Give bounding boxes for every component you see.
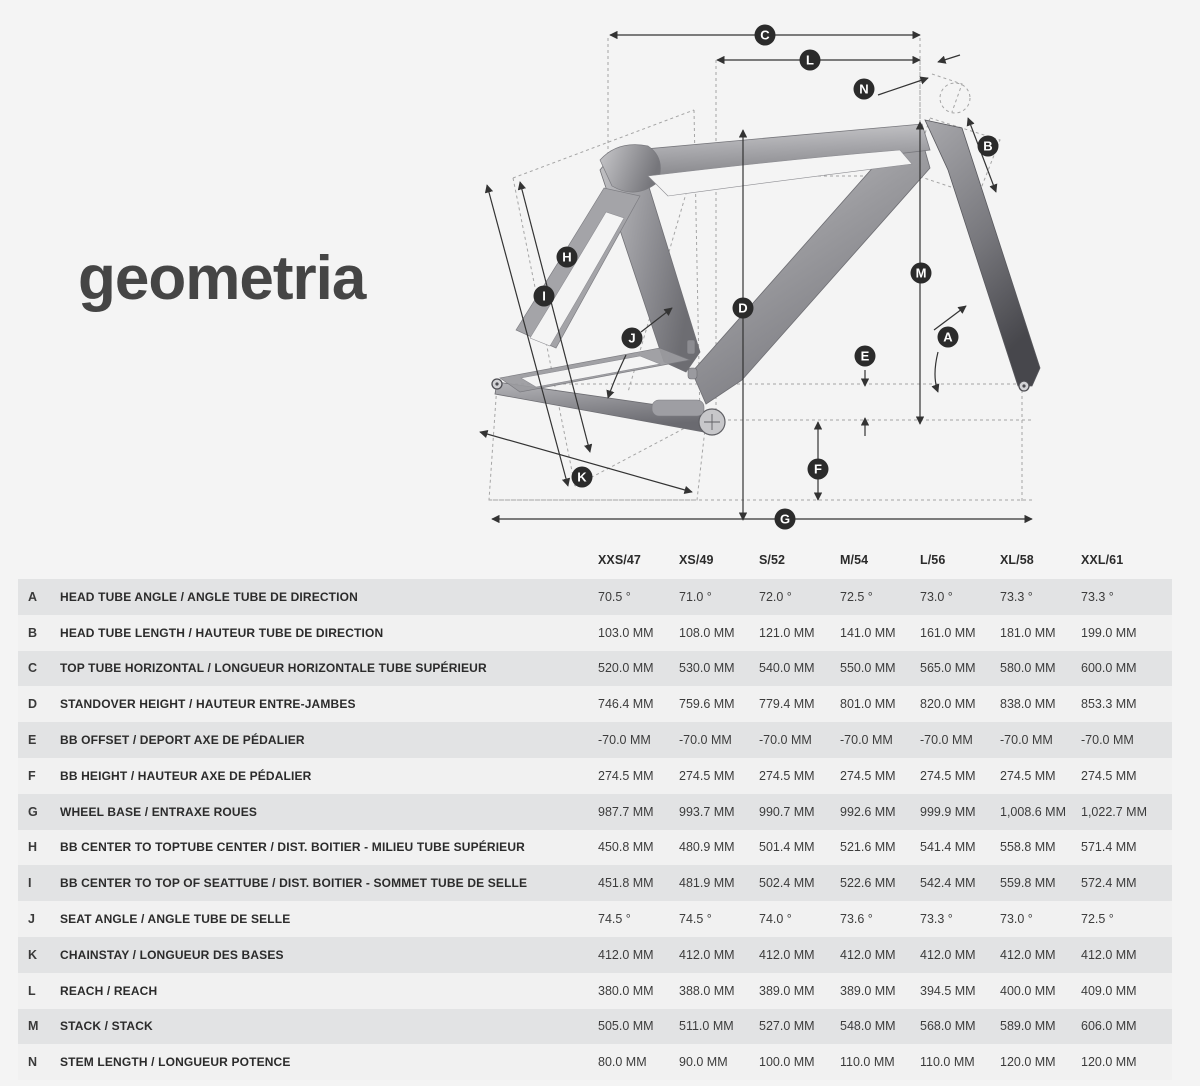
column-header-xxs-47: XXS/47 — [598, 553, 641, 567]
table-header-row: XXS/47XS/49S/52M/54L/56XL/58XXL/61 — [0, 545, 1200, 579]
cell-i-2: 502.4 MM — [759, 865, 815, 901]
cell-a-6: 73.3 ° — [1081, 579, 1114, 615]
badge-letter: B — [983, 139, 992, 154]
cell-h-0: 450.8 MM — [598, 830, 654, 866]
badge-letter: C — [760, 28, 770, 43]
row-label: HEAD TUBE LENGTH / HAUTEUR TUBE DE DIREC… — [60, 615, 383, 651]
cell-b-1: 108.0 MM — [679, 615, 735, 651]
row-letter-n: N — [28, 1044, 37, 1080]
cell-g-6: 1,022.7 MM — [1081, 794, 1147, 830]
cell-k-3: 412.0 MM — [840, 937, 896, 973]
cell-h-2: 501.4 MM — [759, 830, 815, 866]
cell-d-6: 853.3 MM — [1081, 686, 1137, 722]
row-letter-j: J — [28, 901, 35, 937]
cell-l-0: 380.0 MM — [598, 973, 654, 1009]
cell-i-1: 481.9 MM — [679, 865, 735, 901]
page-title: geometria — [78, 248, 365, 310]
table-row: IBB CENTER TO TOP OF SEATTUBE / DIST. BO… — [18, 865, 1172, 901]
cell-m-2: 527.0 MM — [759, 1009, 815, 1045]
badge-letter: M — [916, 266, 927, 281]
callout-badge-g: G — [775, 509, 796, 530]
cell-n-2: 100.0 MM — [759, 1044, 815, 1080]
callout-badge-k: K — [572, 467, 593, 488]
cell-b-3: 141.0 MM — [840, 615, 896, 651]
table-body: AHEAD TUBE ANGLE / ANGLE TUBE DE DIRECTI… — [0, 579, 1200, 1080]
badge-letter: J — [628, 331, 635, 346]
cell-l-2: 389.0 MM — [759, 973, 815, 1009]
cell-e-3: -70.0 MM — [840, 722, 893, 758]
badge-letter: A — [943, 330, 953, 345]
cell-j-6: 72.5 ° — [1081, 901, 1114, 937]
cell-j-0: 74.5 ° — [598, 901, 631, 937]
cell-l-1: 388.0 MM — [679, 973, 735, 1009]
cell-f-3: 274.5 MM — [840, 758, 896, 794]
row-label: CHAINSTAY / LONGUEUR DES BASES — [60, 937, 284, 973]
row-label: STACK / STACK — [60, 1009, 153, 1045]
cell-d-1: 759.6 MM — [679, 686, 735, 722]
table-row: GWHEEL BASE / ENTRAXE ROUES987.7 MM993.7… — [18, 794, 1172, 830]
callout-badge-a: A — [938, 327, 959, 348]
cell-f-0: 274.5 MM — [598, 758, 654, 794]
cell-l-3: 389.0 MM — [840, 973, 896, 1009]
cell-a-3: 72.5 ° — [840, 579, 873, 615]
rear-dropout-hole — [1022, 384, 1025, 387]
downtube-port — [652, 400, 704, 416]
bottle-boss-upper — [687, 340, 695, 354]
row-letter-e: E — [28, 722, 36, 758]
badge-letter: H — [562, 250, 571, 265]
cell-k-2: 412.0 MM — [759, 937, 815, 973]
row-label: HEAD TUBE ANGLE / ANGLE TUBE DE DIRECTIO… — [60, 579, 358, 615]
row-label: TOP TUBE HORIZONTAL / LONGUEUR HORIZONTA… — [60, 651, 487, 687]
table-row: MSTACK / STACK505.0 MM511.0 MM527.0 MM54… — [18, 1009, 1172, 1045]
stem-circle — [940, 83, 970, 113]
table-row: KCHAINSTAY / LONGUEUR DES BASES412.0 MM4… — [18, 937, 1172, 973]
cell-k-6: 412.0 MM — [1081, 937, 1137, 973]
cell-c-0: 520.0 MM — [598, 651, 654, 687]
row-letter-b: B — [28, 615, 37, 651]
cell-a-4: 73.0 ° — [920, 579, 953, 615]
cell-h-4: 541.4 MM — [920, 830, 976, 866]
cell-m-3: 548.0 MM — [840, 1009, 896, 1045]
cell-h-3: 521.6 MM — [840, 830, 896, 866]
cell-c-6: 600.0 MM — [1081, 651, 1137, 687]
badge-letter: D — [738, 301, 747, 316]
cell-j-3: 73.6 ° — [840, 901, 873, 937]
row-letter-a: A — [28, 579, 37, 615]
cell-d-2: 779.4 MM — [759, 686, 815, 722]
cell-c-2: 540.0 MM — [759, 651, 815, 687]
cell-b-0: 103.0 MM — [598, 615, 654, 651]
column-header-xxl-61: XXL/61 — [1081, 553, 1123, 567]
column-header-xs-49: XS/49 — [679, 553, 714, 567]
cell-c-4: 565.0 MM — [920, 651, 976, 687]
cell-e-5: -70.0 MM — [1000, 722, 1053, 758]
row-letter-c: C — [28, 651, 37, 687]
callout-badge-e: E — [855, 346, 876, 367]
cell-g-5: 1,008.6 MM — [1000, 794, 1066, 830]
cell-i-3: 522.6 MM — [840, 865, 896, 901]
cell-n-6: 120.0 MM — [1081, 1044, 1137, 1080]
column-header-l-56: L/56 — [920, 553, 945, 567]
callout-badge-f: F — [808, 459, 829, 480]
row-label: SEAT ANGLE / ANGLE TUBE DE SELLE — [60, 901, 290, 937]
row-label: BB HEIGHT / HAUTEUR AXE DE PÉDALIER — [60, 758, 312, 794]
row-letter-d: D — [28, 686, 37, 722]
cell-n-5: 120.0 MM — [1000, 1044, 1056, 1080]
callout-badge-b: B — [978, 136, 999, 157]
badge-letter: I — [542, 289, 546, 304]
cell-g-2: 990.7 MM — [759, 794, 815, 830]
cell-d-3: 801.0 MM — [840, 686, 896, 722]
badge-letter: E — [861, 349, 870, 364]
cell-j-5: 73.0 ° — [1000, 901, 1033, 937]
badge-letter: K — [577, 470, 587, 485]
cell-h-5: 558.8 MM — [1000, 830, 1056, 866]
table-row: NSTEM LENGTH / LONGUEUR POTENCE80.0 MM90… — [18, 1044, 1172, 1080]
column-header-s-52: S/52 — [759, 553, 785, 567]
cell-m-6: 606.0 MM — [1081, 1009, 1137, 1045]
cell-l-6: 409.0 MM — [1081, 973, 1137, 1009]
cell-h-1: 480.9 MM — [679, 830, 735, 866]
cell-g-4: 999.9 MM — [920, 794, 976, 830]
table-row: BHEAD TUBE LENGTH / HAUTEUR TUBE DE DIRE… — [18, 615, 1172, 651]
cell-a-2: 72.0 ° — [759, 579, 792, 615]
table-row: DSTANDOVER HEIGHT / HAUTEUR ENTRE-JAMBES… — [18, 686, 1172, 722]
badge-letter: N — [859, 82, 868, 97]
cell-b-2: 121.0 MM — [759, 615, 815, 651]
cell-m-5: 589.0 MM — [1000, 1009, 1056, 1045]
table-row: HBB CENTER TO TOPTUBE CENTER / DIST. BOI… — [18, 830, 1172, 866]
cell-i-4: 542.4 MM — [920, 865, 976, 901]
row-label: STEM LENGTH / LONGUEUR POTENCE — [60, 1044, 291, 1080]
cell-a-0: 70.5 ° — [598, 579, 631, 615]
column-header-xl-58: XL/58 — [1000, 553, 1034, 567]
cell-l-5: 400.0 MM — [1000, 973, 1056, 1009]
table-row: JSEAT ANGLE / ANGLE TUBE DE SELLE74.5 °7… — [18, 901, 1172, 937]
geometry-table: XXS/47XS/49S/52M/54L/56XL/58XXL/61 AHEAD… — [0, 545, 1200, 1086]
cell-j-1: 74.5 ° — [679, 901, 712, 937]
cell-i-5: 559.8 MM — [1000, 865, 1056, 901]
cell-g-1: 993.7 MM — [679, 794, 735, 830]
table-row: FBB HEIGHT / HAUTEUR AXE DE PÉDALIER274.… — [18, 758, 1172, 794]
callout-badge-l: L — [800, 50, 821, 71]
row-letter-i: I — [28, 865, 31, 901]
cell-f-4: 274.5 MM — [920, 758, 976, 794]
row-letter-k: K — [28, 937, 37, 973]
cell-a-1: 71.0 ° — [679, 579, 712, 615]
cell-c-1: 530.0 MM — [679, 651, 735, 687]
cell-i-0: 451.8 MM — [598, 865, 654, 901]
bicycle-frame-geometry-diagram: ABCDEFGHIJKLMN — [455, 0, 1095, 545]
cell-g-3: 992.6 MM — [840, 794, 896, 830]
callout-badge-c: C — [755, 25, 776, 46]
cell-e-6: -70.0 MM — [1081, 722, 1134, 758]
callout-badges: ABCDEFGHIJKLMN — [534, 25, 999, 530]
cell-e-2: -70.0 MM — [759, 722, 812, 758]
cell-n-3: 110.0 MM — [840, 1044, 895, 1080]
cell-d-4: 820.0 MM — [920, 686, 976, 722]
callout-badge-n: N — [854, 79, 875, 100]
row-label: BB CENTER TO TOP OF SEATTUBE / DIST. BOI… — [60, 865, 527, 901]
bottle-boss-lower — [688, 368, 697, 379]
column-header-m-54: M/54 — [840, 553, 868, 567]
badge-letter: F — [814, 462, 822, 477]
cell-k-1: 412.0 MM — [679, 937, 735, 973]
cell-e-1: -70.0 MM — [679, 722, 732, 758]
geometry-page: geometria — [0, 0, 1200, 1086]
cell-i-6: 572.4 MM — [1081, 865, 1137, 901]
cell-m-1: 511.0 MM — [679, 1009, 734, 1045]
badge-letter: G — [780, 512, 790, 527]
row-letter-f: F — [28, 758, 36, 794]
cell-h-6: 571.4 MM — [1081, 830, 1137, 866]
cell-c-3: 550.0 MM — [840, 651, 896, 687]
table-row: LREACH / REACH380.0 MM388.0 MM389.0 MM38… — [18, 973, 1172, 1009]
cell-b-5: 181.0 MM — [1000, 615, 1056, 651]
row-label: STANDOVER HEIGHT / HAUTEUR ENTRE-JAMBES — [60, 686, 356, 722]
row-label: WHEEL BASE / ENTRAXE ROUES — [60, 794, 257, 830]
table-row: CTOP TUBE HORIZONTAL / LONGUEUR HORIZONT… — [18, 651, 1172, 687]
front-dropout-hole — [495, 382, 498, 385]
cell-c-5: 580.0 MM — [1000, 651, 1056, 687]
cell-f-5: 274.5 MM — [1000, 758, 1056, 794]
row-letter-l: L — [28, 973, 36, 1009]
row-label: BB CENTER TO TOPTUBE CENTER / DIST. BOIT… — [60, 830, 525, 866]
table-row: EBB OFFSET / DEPORT AXE DE PÉDALIER-70.0… — [18, 722, 1172, 758]
row-letter-g: G — [28, 794, 38, 830]
cell-m-4: 568.0 MM — [920, 1009, 976, 1045]
cell-k-0: 412.0 MM — [598, 937, 654, 973]
row-letter-h: H — [28, 830, 37, 866]
cell-f-2: 274.5 MM — [759, 758, 815, 794]
cell-m-0: 505.0 MM — [598, 1009, 654, 1045]
table-row: AHEAD TUBE ANGLE / ANGLE TUBE DE DIRECTI… — [18, 579, 1172, 615]
cell-d-5: 838.0 MM — [1000, 686, 1056, 722]
cell-b-6: 199.0 MM — [1081, 615, 1137, 651]
cell-j-4: 73.3 ° — [920, 901, 953, 937]
cell-j-2: 74.0 ° — [759, 901, 792, 937]
seatstay — [925, 120, 1040, 386]
row-label: BB OFFSET / DEPORT AXE DE PÉDALIER — [60, 722, 305, 758]
row-letter-m: M — [28, 1009, 38, 1045]
cell-k-5: 412.0 MM — [1000, 937, 1056, 973]
badge-letter: L — [806, 53, 814, 68]
callout-badge-h: H — [557, 247, 578, 268]
cell-n-0: 80.0 MM — [598, 1044, 647, 1080]
cell-e-0: -70.0 MM — [598, 722, 651, 758]
callout-badge-i: I — [534, 286, 555, 307]
cell-n-1: 90.0 MM — [679, 1044, 728, 1080]
cell-g-0: 987.7 MM — [598, 794, 654, 830]
cell-d-0: 746.4 MM — [598, 686, 654, 722]
callout-badge-m: M — [911, 263, 932, 284]
cell-k-4: 412.0 MM — [920, 937, 976, 973]
cell-b-4: 161.0 MM — [920, 615, 976, 651]
cell-l-4: 394.5 MM — [920, 973, 976, 1009]
cell-f-1: 274.5 MM — [679, 758, 735, 794]
callout-badge-j: J — [622, 328, 643, 349]
cell-n-4: 110.0 MM — [920, 1044, 975, 1080]
cell-f-6: 274.5 MM — [1081, 758, 1137, 794]
callout-badge-d: D — [733, 298, 754, 319]
cell-a-5: 73.3 ° — [1000, 579, 1033, 615]
row-label: REACH / REACH — [60, 973, 157, 1009]
cell-e-4: -70.0 MM — [920, 722, 973, 758]
